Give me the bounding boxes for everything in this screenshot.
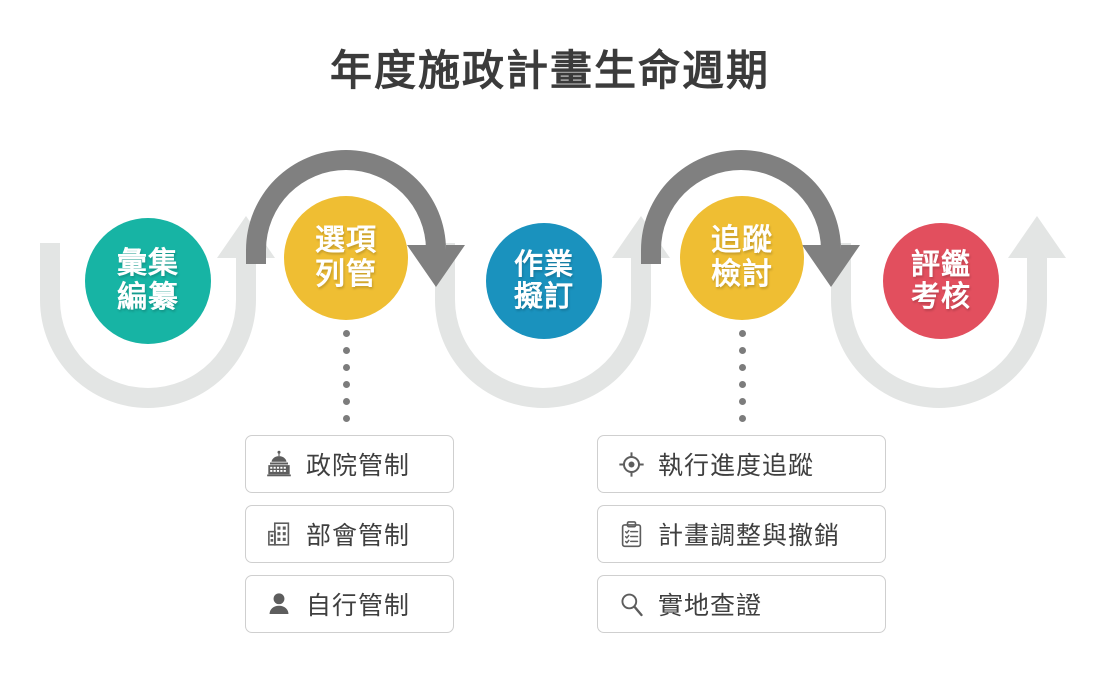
detail-box-label: 政院管制: [306, 446, 410, 482]
office-building-icon: [264, 519, 294, 549]
detail-box-label: 實地查證: [658, 586, 762, 622]
stage-3-line-2: 擬訂: [514, 281, 574, 313]
detail-box-label: 執行進度追蹤: [658, 446, 814, 482]
stage-5-line-2: 考核: [911, 281, 971, 313]
detail-box-label: 計畫調整與撤銷: [658, 516, 840, 552]
stage-4-line-1: 追蹤: [711, 224, 773, 258]
clipboard-icon: [616, 519, 646, 549]
detail-box-plan-adjust-cancel[interactable]: 計畫調整與撤銷: [597, 505, 886, 563]
connector-dot: [739, 330, 746, 337]
detail-box-ministry-control[interactable]: 部會管制: [245, 505, 454, 563]
stage-2-line-2: 列管: [315, 258, 377, 292]
connector-dot: [343, 347, 350, 354]
stage-1-line-2: 編纂: [117, 281, 179, 315]
stage-circle-3[interactable]: 作業 擬訂: [486, 223, 602, 339]
connector-dot: [739, 364, 746, 371]
connector-dot: [739, 415, 746, 422]
stage-3-line-1: 作業: [514, 249, 574, 281]
connector-dot: [343, 415, 350, 422]
stage-circle-2[interactable]: 選項 列管: [284, 196, 408, 320]
connector-dot: [343, 364, 350, 371]
stage-circle-4[interactable]: 追蹤 檢討: [680, 196, 804, 320]
magnifier-icon: [616, 589, 646, 619]
person-icon: [264, 589, 294, 619]
diagram-canvas: 年度施政計畫生命週期 彙集 編纂 選項 列管 作業 擬訂: [0, 0, 1100, 680]
target-icon: [616, 449, 646, 479]
detail-box-government-control[interactable]: 政院管制: [245, 435, 454, 493]
connector-dot: [739, 381, 746, 388]
government-building-icon: [264, 449, 294, 479]
detail-box-label: 自行管制: [306, 586, 410, 622]
stage-1-line-1: 彙集: [117, 247, 179, 281]
stage-5-line-1: 評鑑: [911, 249, 971, 281]
connector-dot: [343, 330, 350, 337]
stage-4-line-2: 檢討: [711, 258, 773, 292]
connector-dot: [739, 398, 746, 405]
connector-dot: [343, 381, 350, 388]
detail-box-self-control[interactable]: 自行管制: [245, 575, 454, 633]
stage-circle-5[interactable]: 評鑑 考核: [883, 223, 999, 339]
detail-box-field-verification[interactable]: 實地查證: [597, 575, 886, 633]
stage-2-line-1: 選項: [315, 224, 377, 258]
dotted-connector-right: [738, 330, 746, 422]
dotted-connector-left: [342, 330, 350, 422]
connector-dot: [739, 347, 746, 354]
detail-box-progress-tracking[interactable]: 執行進度追蹤: [597, 435, 886, 493]
connector-dot: [343, 398, 350, 405]
detail-box-label: 部會管制: [306, 516, 410, 552]
stage-circle-1[interactable]: 彙集 編纂: [85, 218, 211, 344]
